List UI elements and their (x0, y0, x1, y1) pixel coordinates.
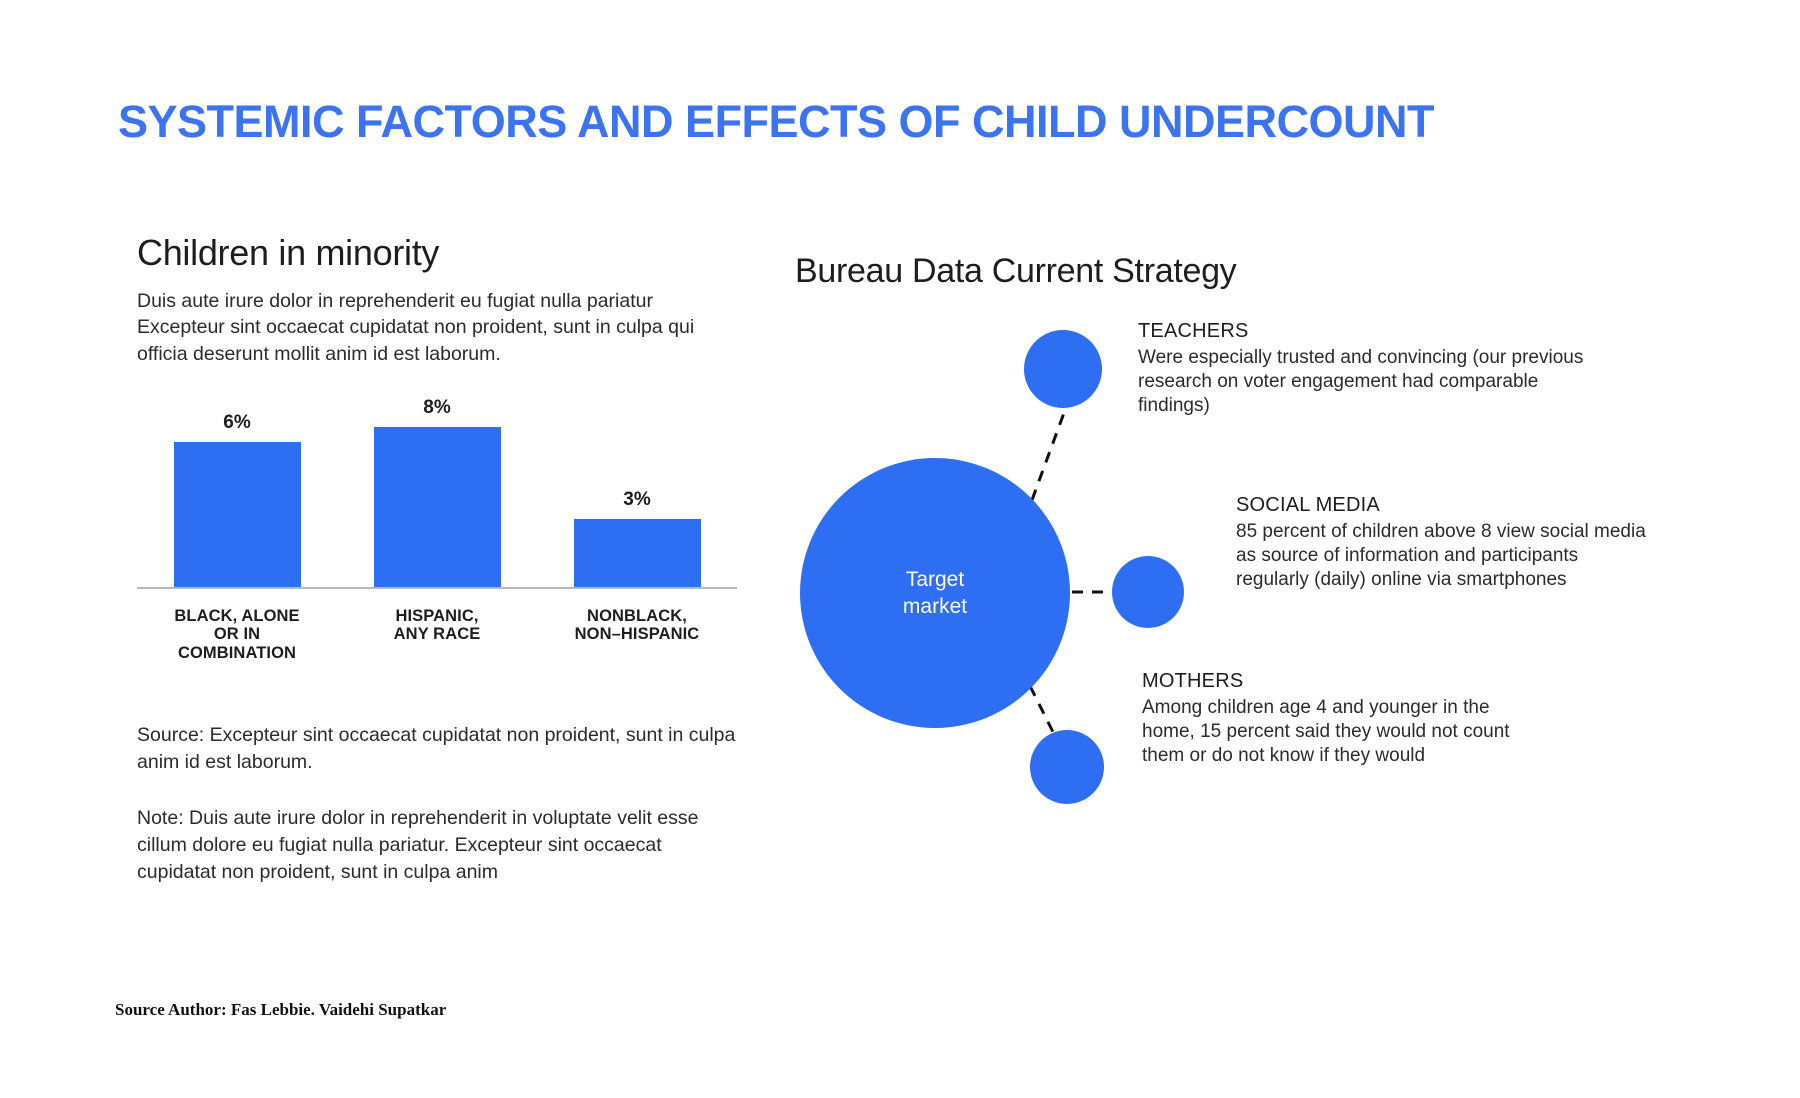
bar-group: 6% 8% 3% (137, 397, 737, 587)
note-text: Note: Duis aute irure dolor in reprehend… (137, 805, 737, 885)
bar-value-label: 3% (623, 489, 650, 511)
source-text: Source: Excepteur sint occaecat cupidata… (137, 722, 737, 775)
bar-column: 3% (537, 397, 737, 587)
bar-rect (374, 427, 501, 587)
bar-value-label: 6% (223, 412, 250, 434)
node-title-teachers: TEACHERS (1138, 320, 1588, 343)
right-section-heading: Bureau Data Current Strategy (795, 252, 1236, 291)
node-text-social-media: SOCIAL MEDIA 85 percent of children abov… (1236, 494, 1656, 592)
bar-chart: 6% 8% 3% BLACK, ALONE OR IN COMBINATION … (137, 385, 737, 615)
node-text-mothers: MOTHERS Among children age 4 and younger… (1142, 670, 1542, 768)
category-label: BLACK, ALONE OR IN COMBINATION (137, 607, 337, 663)
category-label: HISPANIC, ANY RACE (337, 607, 537, 663)
category-labels: BLACK, ALONE OR IN COMBINATION HISPANIC,… (137, 607, 737, 663)
infographic-page: SYSTEMIC FACTORS AND EFFECTS OF CHILD UN… (0, 0, 1800, 1098)
node-circle-mothers (1030, 730, 1104, 804)
left-panel: Children in minority Duis aute irure dol… (137, 232, 737, 615)
node-body-mothers: Among children age 4 and younger in the … (1142, 696, 1542, 768)
node-body-social-media: 85 percent of children above 8 view soci… (1236, 520, 1656, 592)
connector-teachers (1032, 402, 1068, 500)
node-text-teachers: TEACHERS Were especially trusted and con… (1138, 320, 1588, 418)
bar-column: 8% (337, 397, 537, 587)
bar-rect (174, 442, 301, 587)
node-body-teachers: Were especially trusted and convincing (… (1138, 346, 1588, 418)
node-title-mothers: MOTHERS (1142, 670, 1542, 693)
target-market-circle: Target market (800, 458, 1070, 728)
node-circle-teachers (1024, 330, 1102, 408)
x-axis-line (137, 587, 737, 589)
author-credit: Source Author: Fas Lebbie. Vaidehi Supat… (115, 1000, 446, 1020)
node-title-social-media: SOCIAL MEDIA (1236, 494, 1656, 517)
source-note-block: Source: Excepteur sint occaecat cupidata… (137, 722, 737, 886)
left-section-heading: Children in minority (137, 232, 737, 274)
bar-value-label: 8% (423, 397, 450, 419)
left-intro-paragraph: Duis aute irure dolor in reprehenderit e… (137, 288, 737, 367)
bar-column: 6% (137, 397, 337, 587)
page-title: SYSTEMIC FACTORS AND EFFECTS OF CHILD UN… (118, 96, 1434, 148)
target-market-label: Target market (903, 566, 967, 621)
category-label: NONBLACK, NON–HISPANIC (537, 607, 737, 663)
strategy-diagram: Target market TEACHERS Were especially t… (780, 330, 1740, 890)
node-circle-social-media (1112, 556, 1184, 628)
bar-rect (574, 519, 701, 587)
